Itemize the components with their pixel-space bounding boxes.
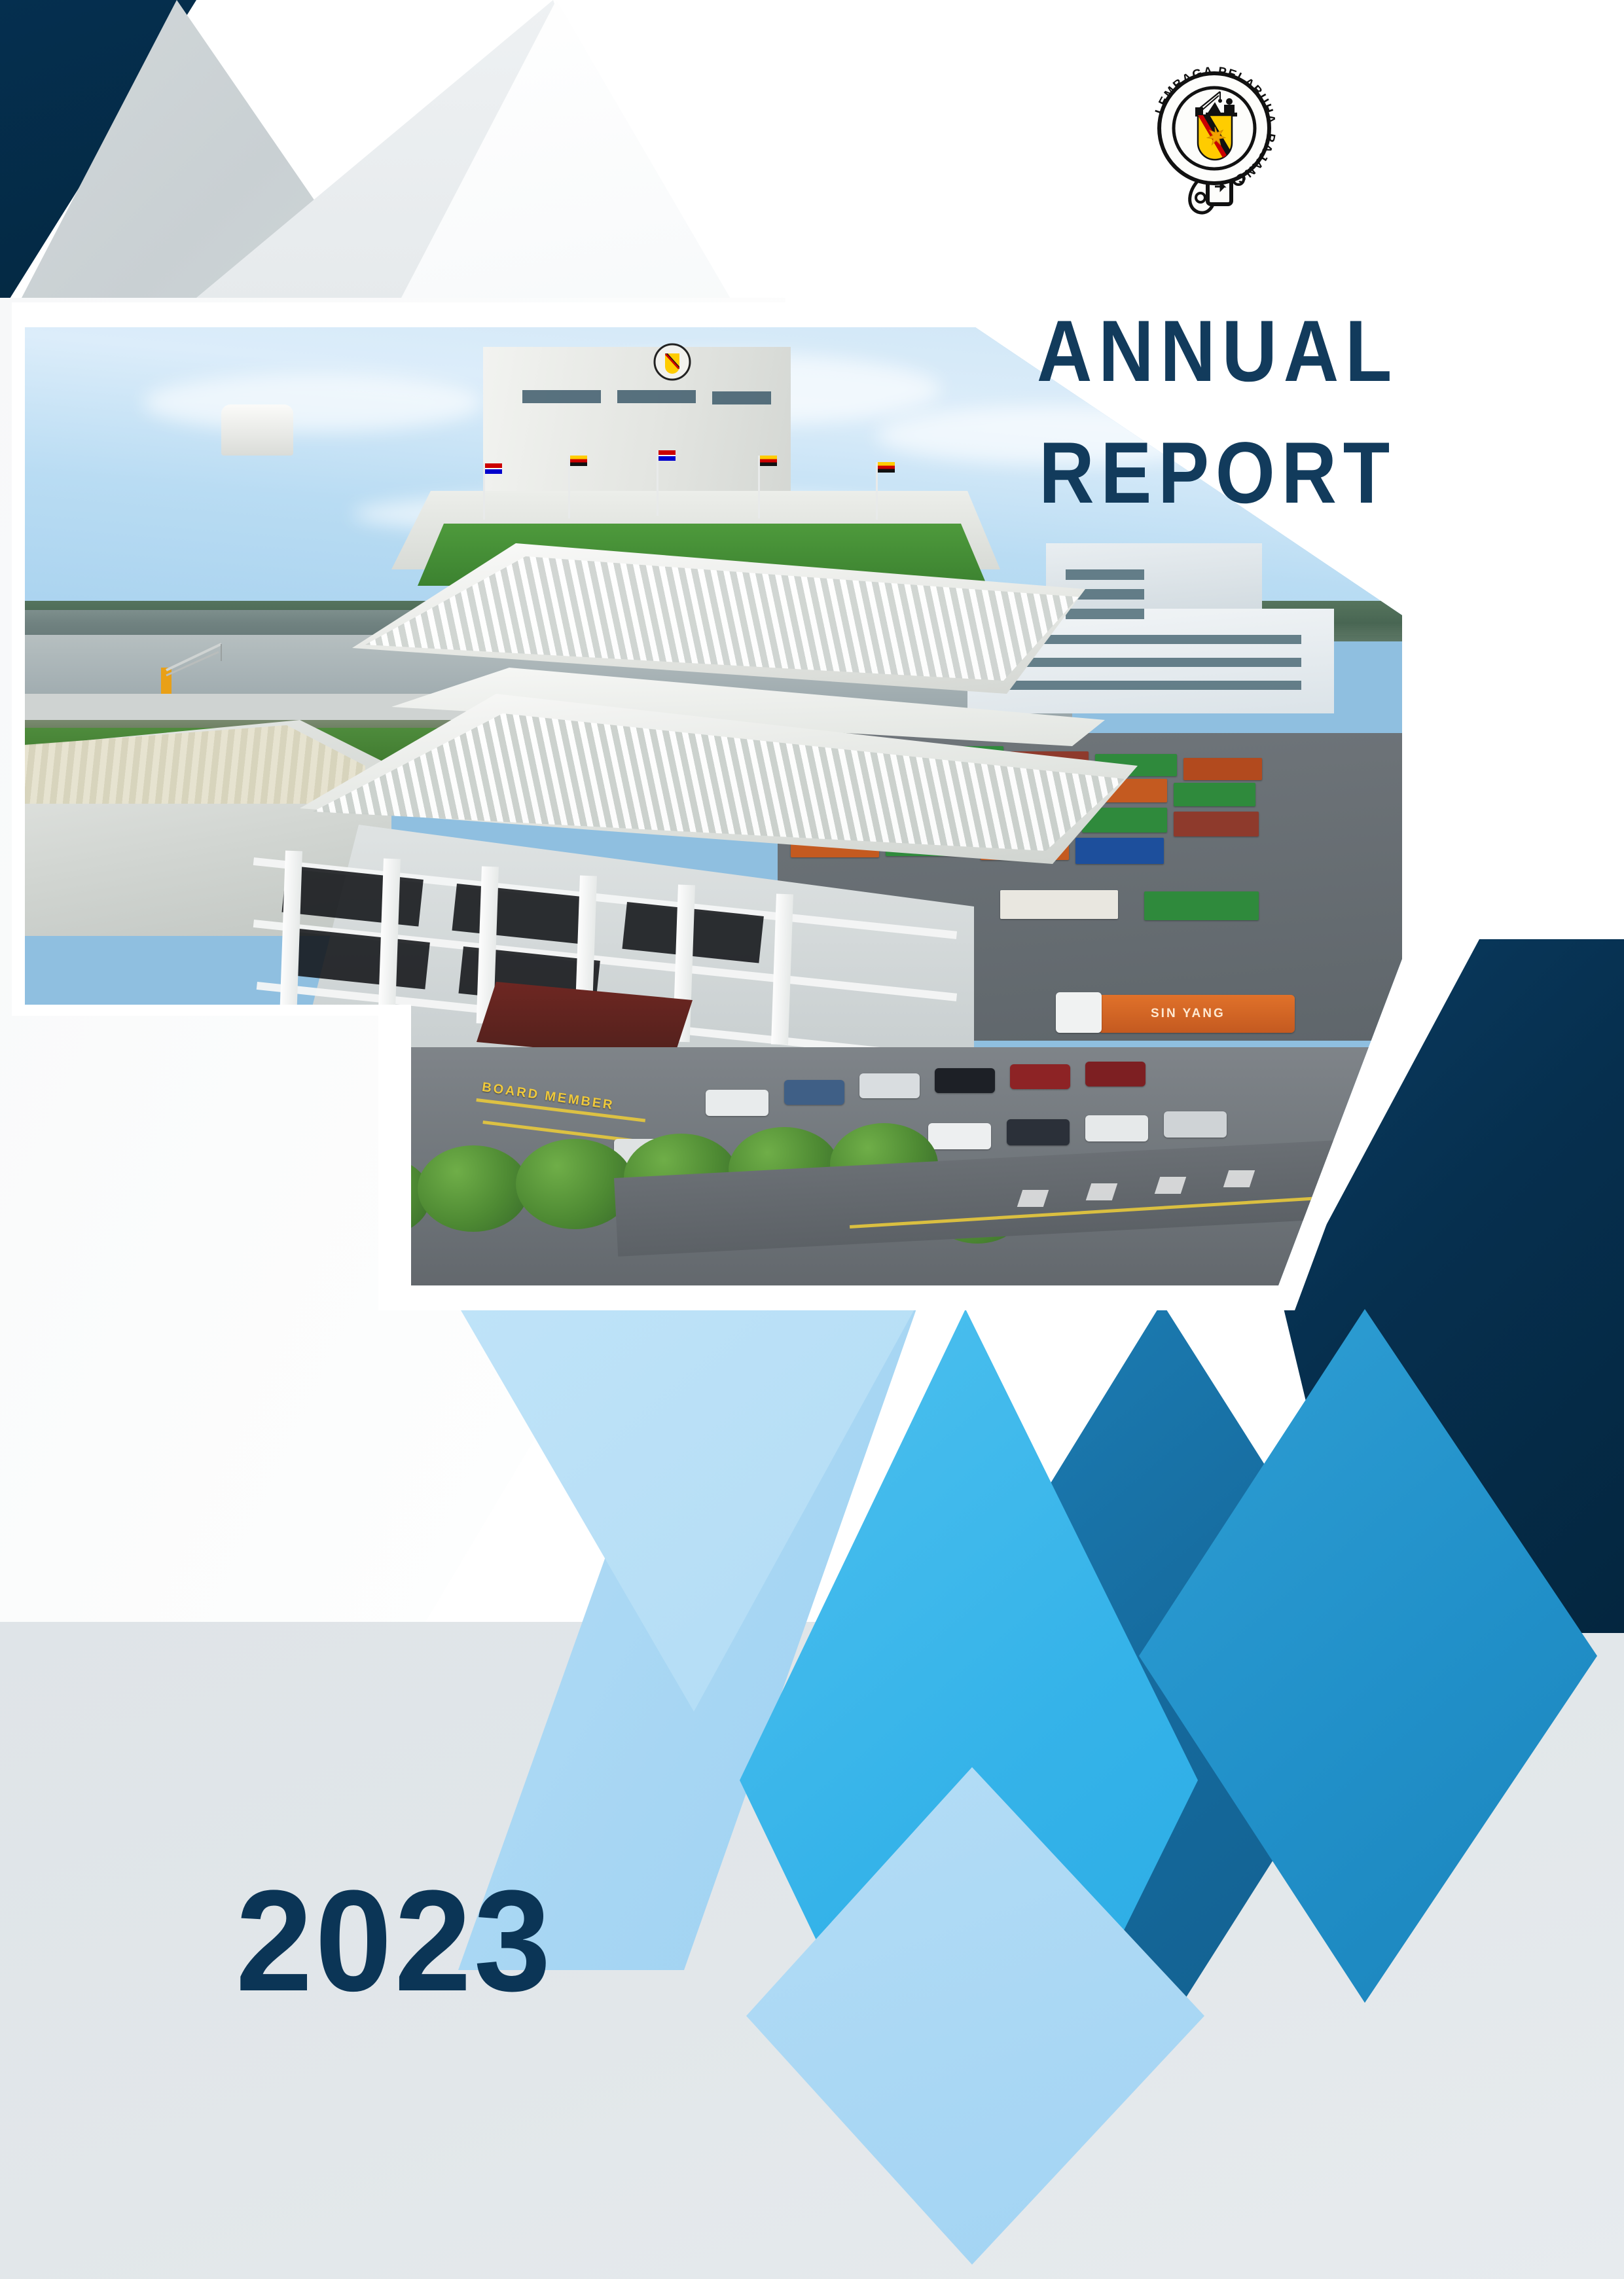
car	[1164, 1111, 1227, 1138]
water-tank	[221, 404, 293, 456]
cloud	[143, 373, 483, 432]
window-band	[987, 658, 1301, 667]
title-line-report: REPORT	[929, 429, 1506, 518]
car	[859, 1073, 920, 1098]
window	[1066, 609, 1144, 619]
road-marking	[1086, 1183, 1117, 1200]
sarawak-flag	[760, 456, 777, 466]
sarawak-flag	[570, 456, 587, 466]
window-band	[987, 681, 1301, 690]
organization-logo: LEMBAGA PELABUHAN RAJANG	[1147, 58, 1282, 221]
car	[935, 1068, 995, 1093]
car	[706, 1090, 768, 1116]
tree	[418, 1145, 529, 1232]
road-marking	[1017, 1190, 1049, 1207]
shipping-container	[1174, 783, 1255, 806]
malaysia-flag	[659, 450, 676, 461]
lembaga-pelabuhan-rajang-emblem-icon: LEMBAGA PELABUHAN RAJANG	[1147, 58, 1282, 221]
window	[1066, 569, 1144, 580]
container-label: SIN YANG	[1151, 1007, 1225, 1021]
window	[712, 391, 771, 404]
cover-title-block: ANNUAL REPORT	[890, 308, 1545, 518]
car	[1085, 1062, 1146, 1086]
car	[1010, 1064, 1070, 1089]
building-crest-icon	[653, 343, 691, 381]
road-marking	[1223, 1170, 1255, 1187]
shipping-container	[1183, 758, 1262, 780]
window	[522, 390, 601, 403]
car	[1007, 1119, 1070, 1145]
title-line-annual: ANNUAL	[929, 308, 1506, 397]
shipping-container	[1075, 838, 1164, 864]
annual-report-cover-page: LEMBAGA PELABUHAN RAJANG BOARD MEMBER	[0, 0, 1624, 2279]
reefer-container	[1000, 890, 1118, 919]
shipping-container	[1144, 891, 1259, 920]
flag	[485, 463, 502, 474]
cover-year: 2023	[236, 1869, 553, 2013]
car	[928, 1123, 991, 1149]
shipping-container	[1174, 812, 1259, 836]
window	[617, 390, 696, 403]
truck-cab	[1056, 992, 1102, 1033]
car	[784, 1080, 844, 1105]
road-marking	[1155, 1177, 1186, 1194]
car	[1085, 1115, 1148, 1141]
